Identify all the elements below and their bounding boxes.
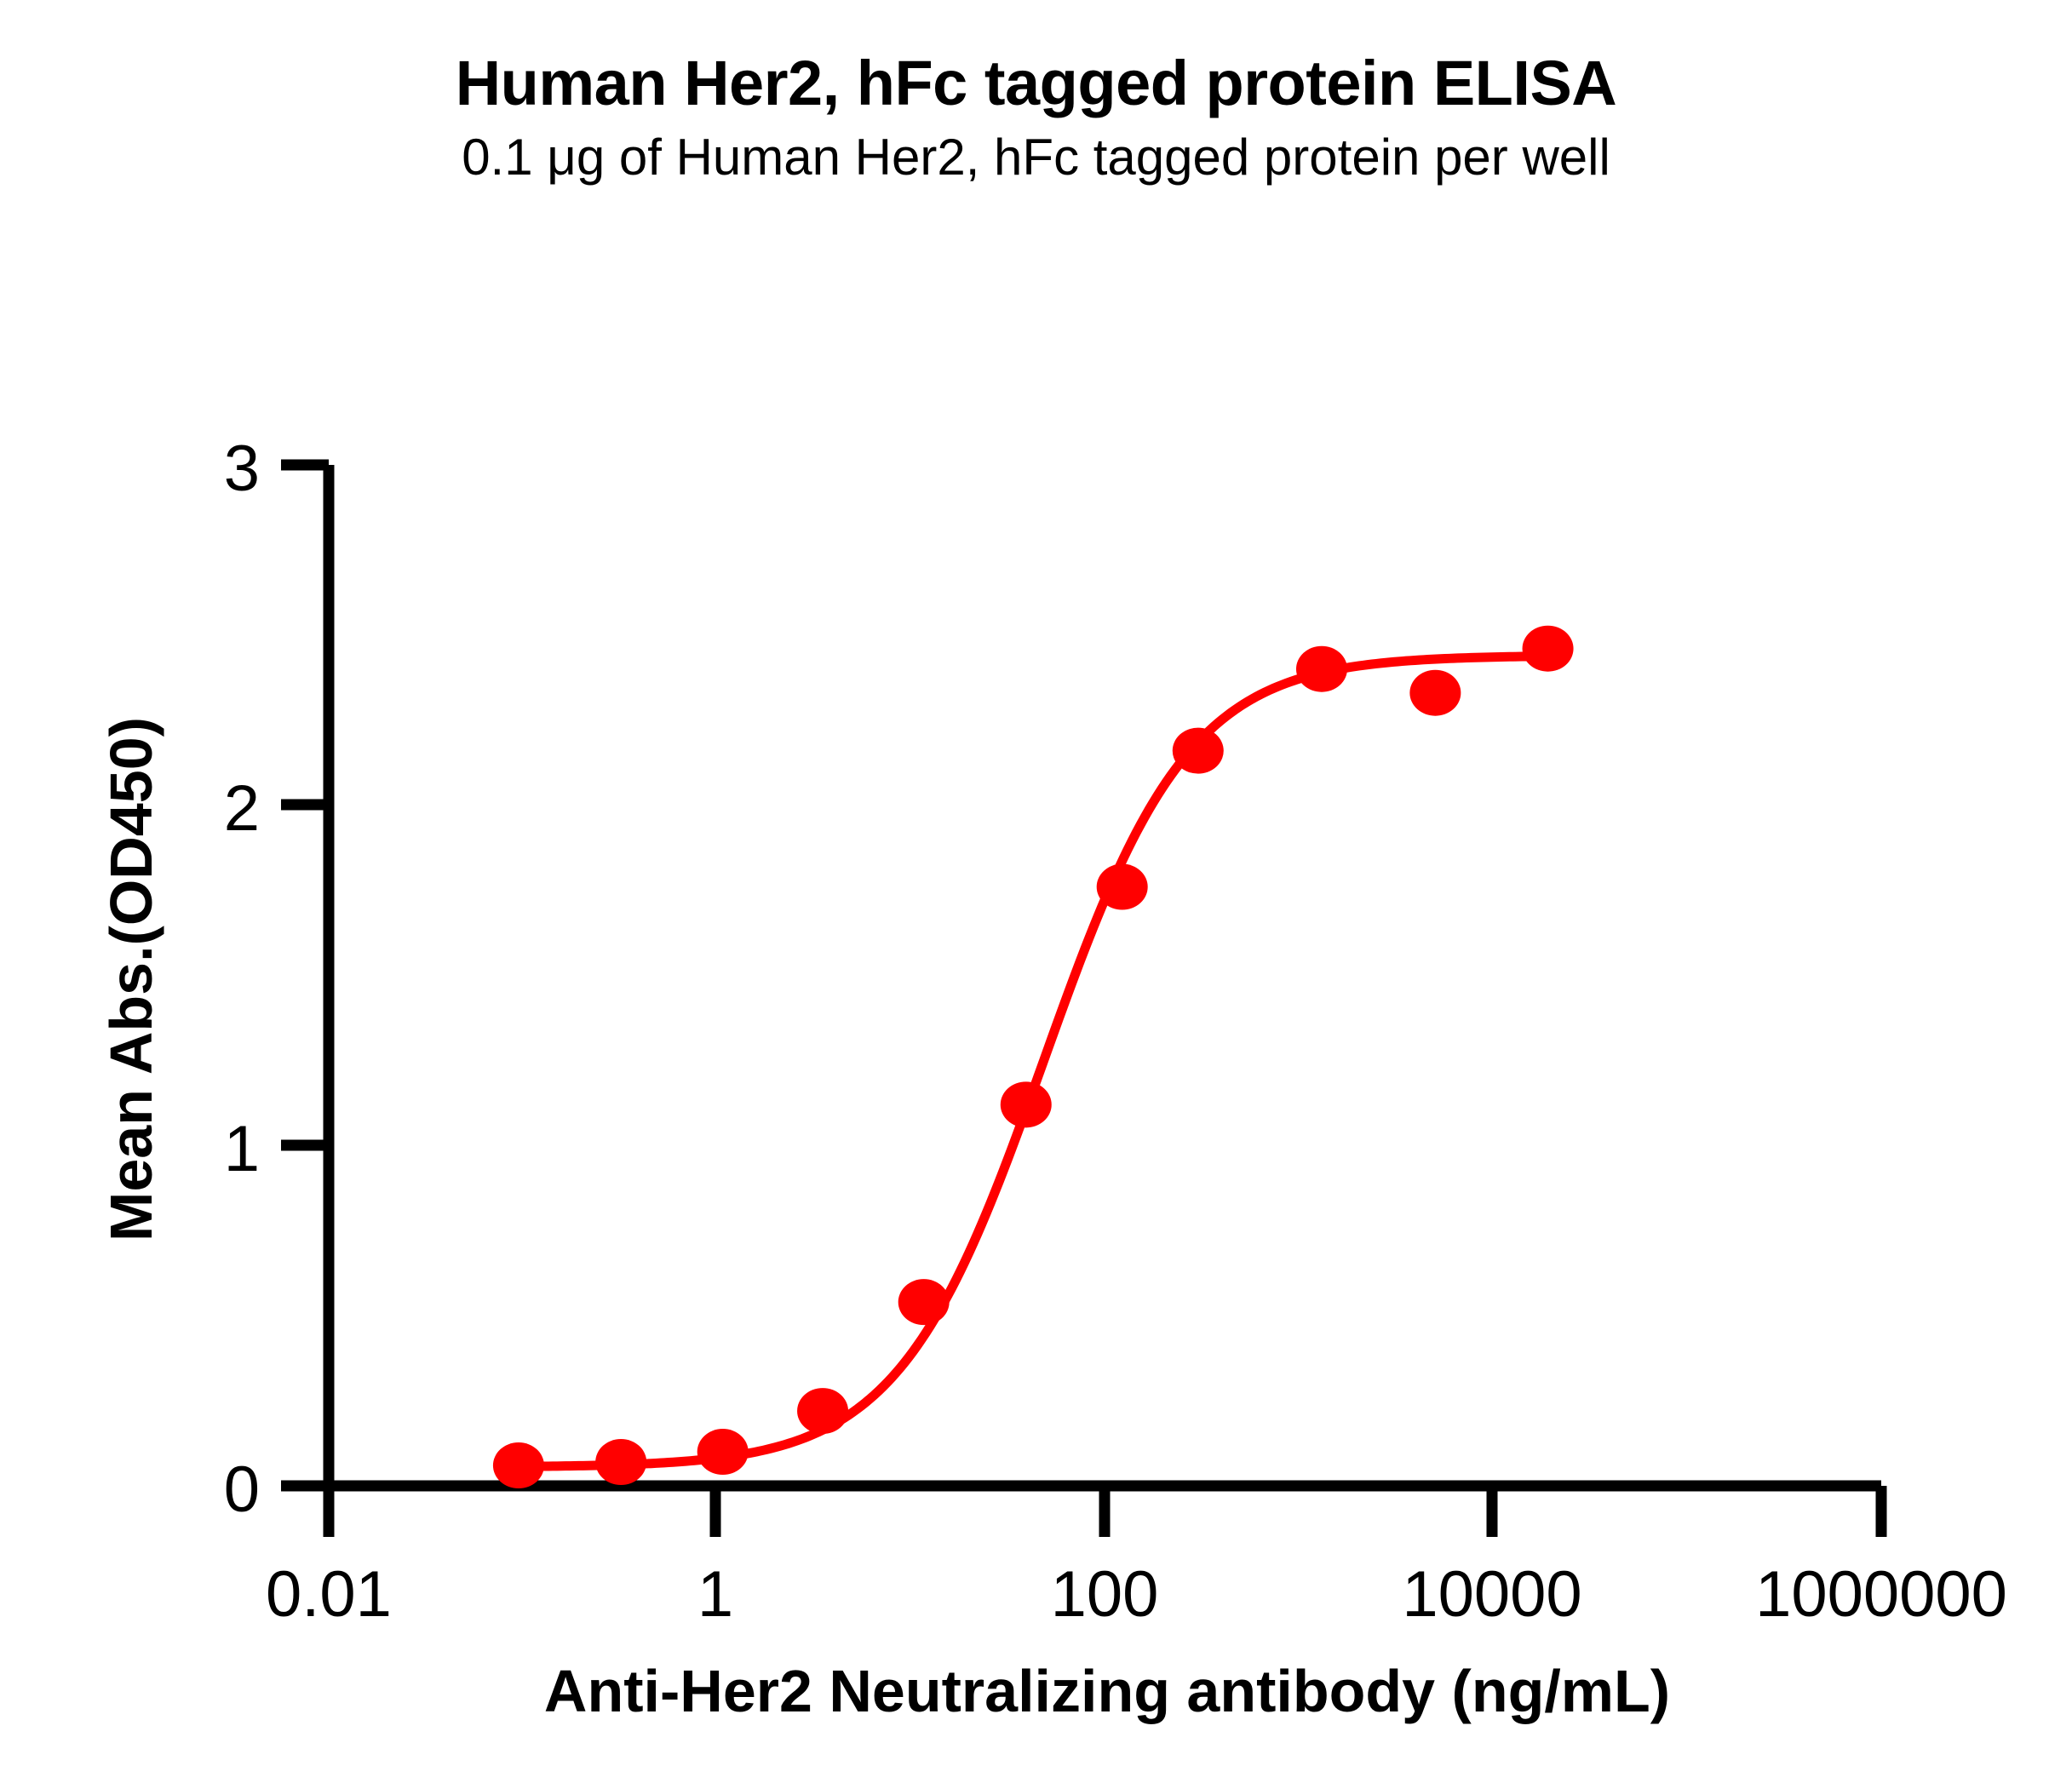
y-tick-label-1: 1: [224, 1113, 260, 1185]
plot-area: 3 2 1 0 0.01 1 100 10000 1000000 Anti-He…: [0, 0, 2072, 1783]
data-point: [1523, 626, 1574, 672]
x-tick-label-10000: 10000: [1402, 1558, 1581, 1631]
data-point: [797, 1388, 848, 1434]
fit-curve: [519, 656, 1548, 1467]
y-tick-label-3: 3: [224, 433, 260, 505]
y-axis-title: Mean Abs.(OD450): [98, 717, 164, 1241]
x-axis-ticks: [329, 1486, 1881, 1537]
x-tick-label-1: 1: [697, 1558, 733, 1631]
y-tick-label-2: 2: [224, 772, 260, 845]
chart-svg: 3 2 1 0 0.01 1 100 10000 1000000 Anti-He…: [0, 0, 2072, 1783]
data-point: [1001, 1081, 1052, 1127]
x-axis-title: Anti-Her2 Neutralizing antibody (ng/mL): [544, 1658, 1670, 1724]
x-tick-label-1000000: 1000000: [1755, 1558, 2007, 1631]
data-point: [697, 1429, 749, 1475]
data-point: [1296, 646, 1347, 692]
x-tick-label-0.01: 0.01: [266, 1558, 392, 1631]
data-point: [1097, 864, 1148, 910]
elisa-figure: Human Her2, hFc tagged protein ELISA 0.1…: [0, 0, 2072, 1783]
data-point: [493, 1442, 544, 1488]
data-point: [1173, 728, 1224, 774]
data-point: [898, 1279, 950, 1325]
x-tick-label-100: 100: [1051, 1558, 1159, 1631]
data-point: [1409, 670, 1461, 716]
y-tick-label-0: 0: [224, 1453, 260, 1526]
y-axis-ticks: [281, 465, 329, 1486]
data-point: [595, 1439, 646, 1485]
data-point-group: [493, 626, 1574, 1488]
